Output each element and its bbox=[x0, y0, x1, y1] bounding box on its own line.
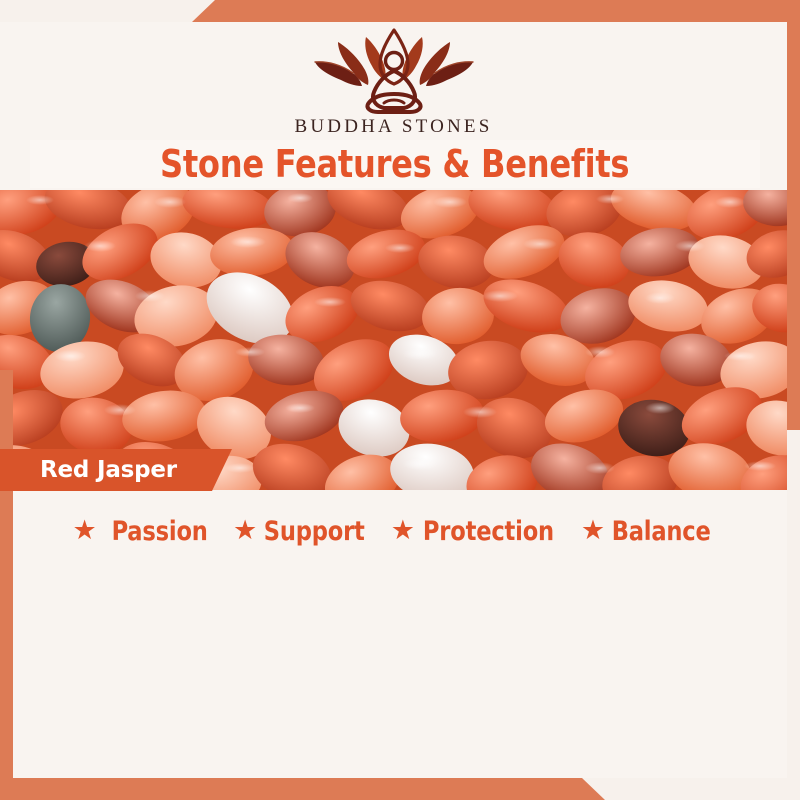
frame-accent-right bbox=[787, 0, 800, 430]
feature-label: Passion bbox=[111, 516, 207, 547]
brand-name: BUDDHA STONES bbox=[294, 116, 492, 138]
frame-accent-top bbox=[0, 0, 800, 22]
feature-item-protection: ★ Protection bbox=[391, 516, 559, 547]
feature-label: Balance bbox=[612, 516, 711, 547]
brand-logo: BUDDHA STONES bbox=[0, 22, 787, 142]
feature-item-support: ★ Support bbox=[233, 516, 369, 547]
feature-list: ★ Passion ★ Support ★ Protection ★ Balan… bbox=[0, 516, 787, 547]
feature-item-balance: ★ Balance bbox=[581, 516, 715, 547]
stone-name-badge: Red Jasper bbox=[0, 449, 232, 491]
frame-accent-left bbox=[0, 370, 13, 800]
stone-photo bbox=[0, 190, 787, 490]
star-icon: ★ bbox=[391, 517, 415, 544]
feature-label: Protection bbox=[423, 516, 554, 547]
lotus-meditation-figure-icon bbox=[310, 28, 478, 114]
feature-item-passion: ★ Passion bbox=[73, 516, 212, 547]
star-icon: ★ bbox=[73, 517, 97, 544]
star-icon: ★ bbox=[233, 517, 257, 544]
feature-label: Support bbox=[264, 516, 365, 547]
star-icon: ★ bbox=[581, 517, 605, 544]
stone-name: Red Jasper bbox=[0, 457, 177, 483]
page-title: Stone Features & Benefits bbox=[160, 142, 629, 186]
poster-root: BUDDHA STONES Stone Features & Benefits bbox=[0, 0, 800, 800]
headline-band: Stone Features & Benefits bbox=[30, 140, 760, 188]
